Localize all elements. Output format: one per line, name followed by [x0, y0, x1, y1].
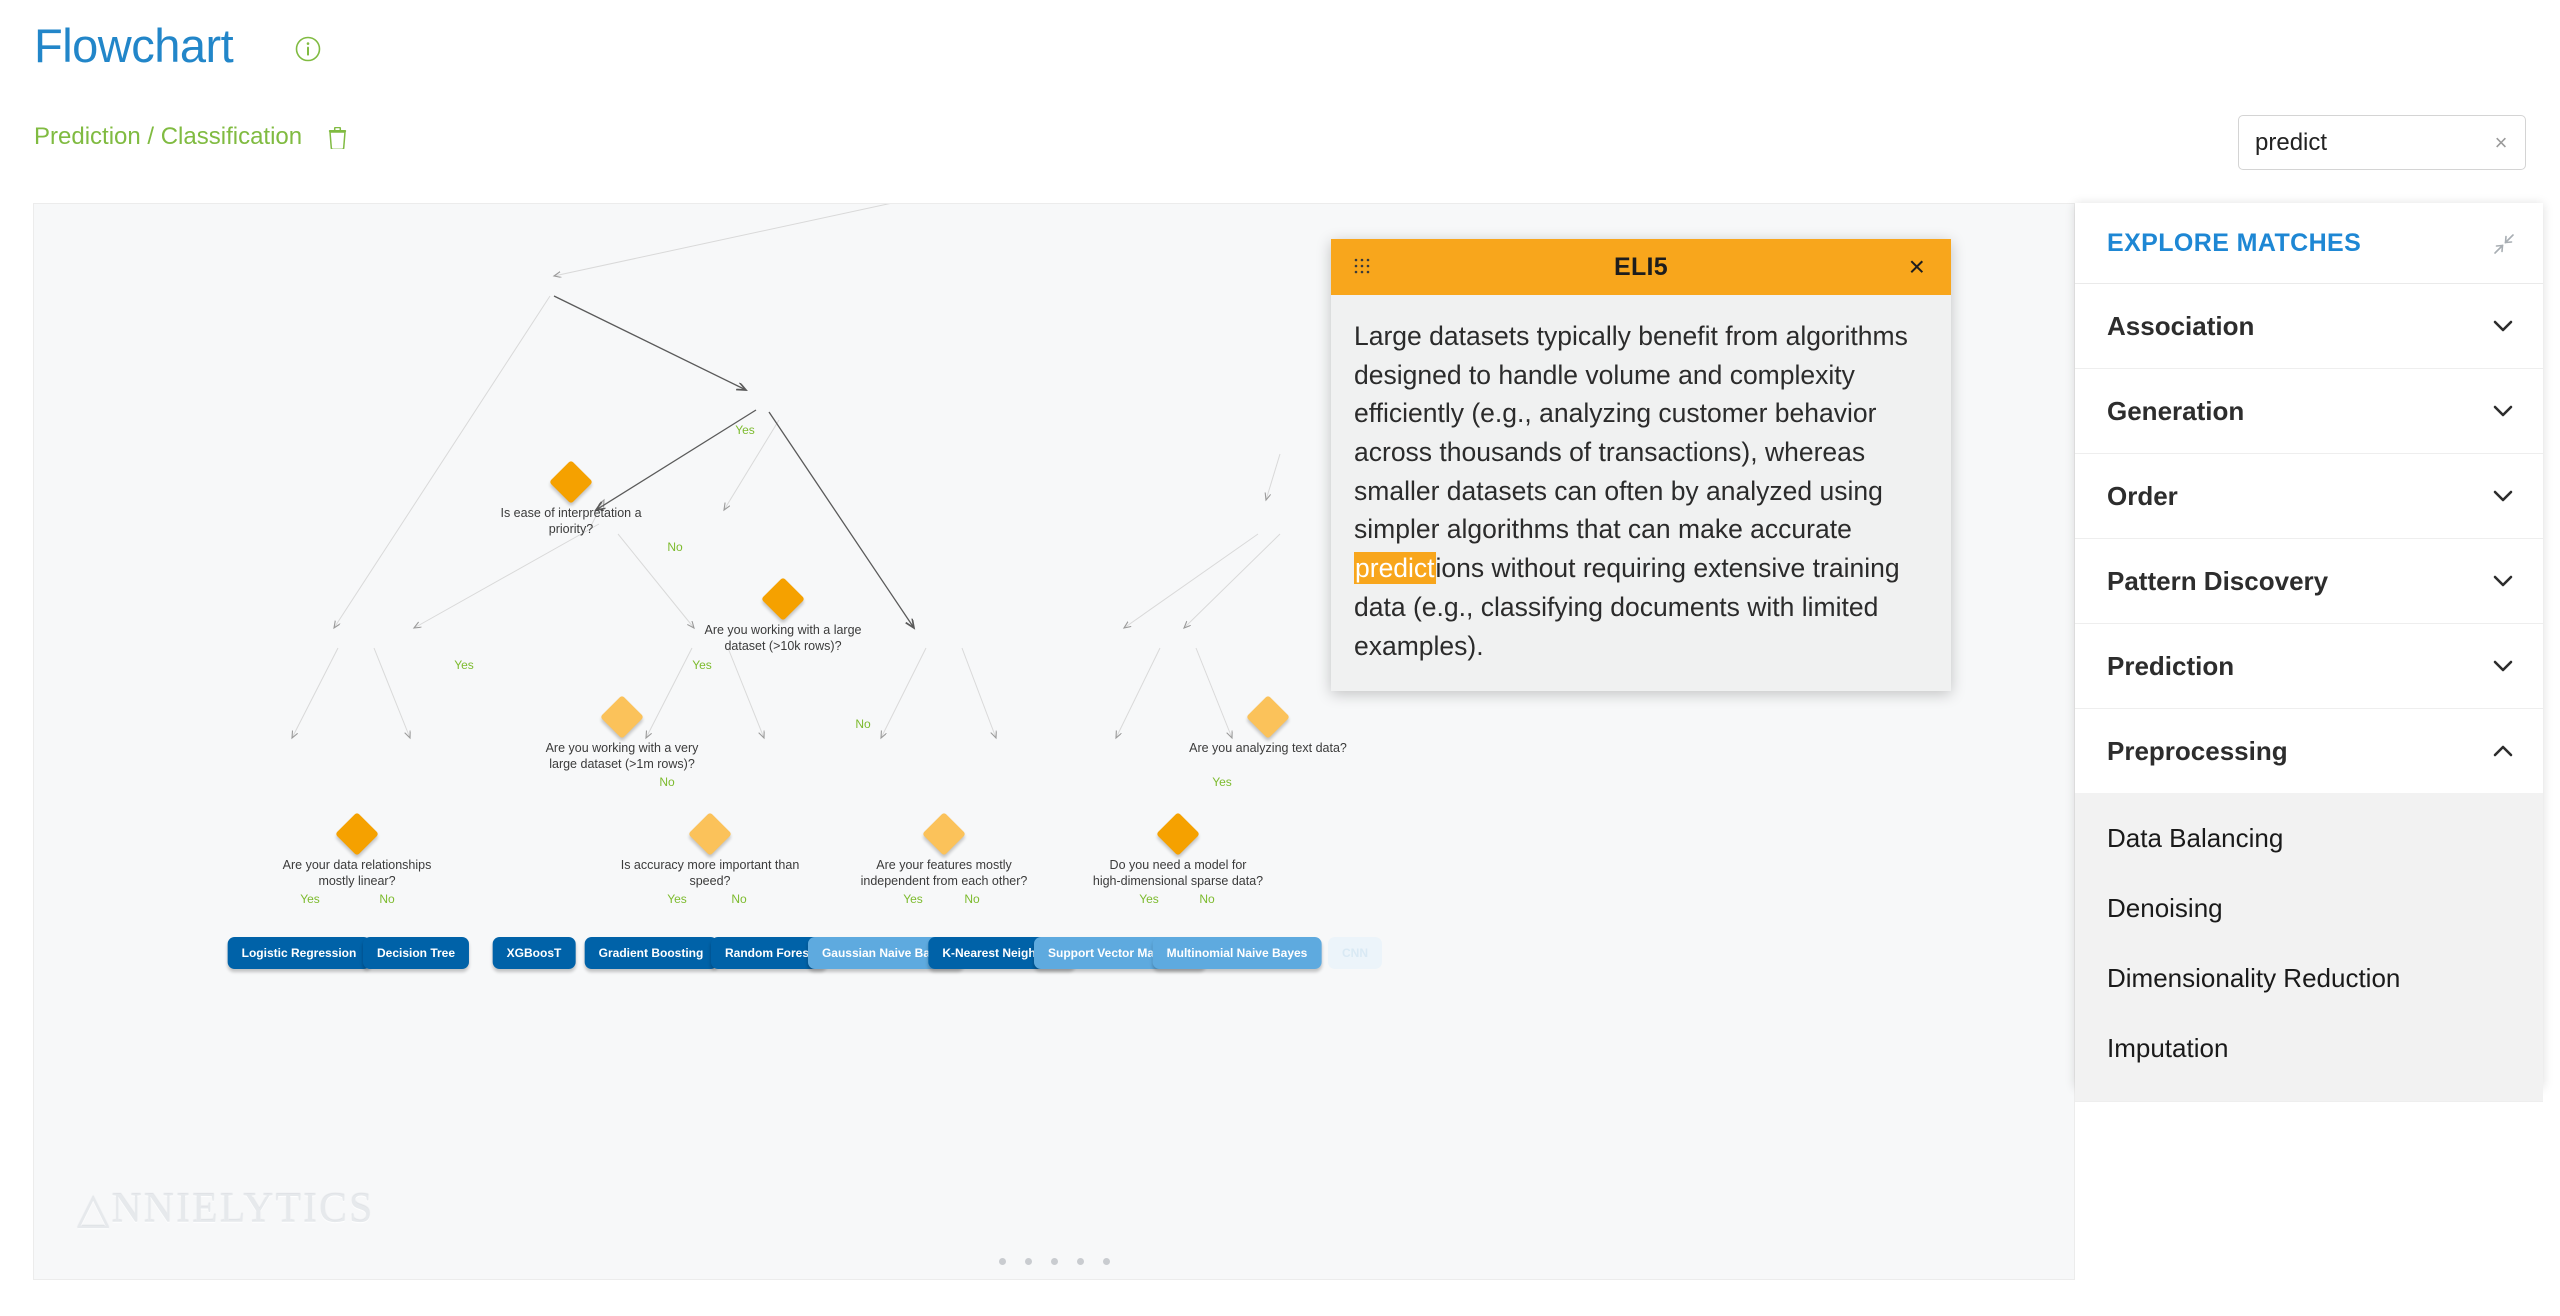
accordion-pattern-discovery: Pattern Discovery [2075, 539, 2543, 624]
accordion-label: Pattern Discovery [2107, 566, 2328, 597]
accordion-label: Prediction [2107, 651, 2234, 682]
accordion-preprocessing: PreprocessingData BalancingDenoisingDime… [2075, 709, 2543, 1102]
explore-matches-panel[interactable]: EXPLORE MATCHES AssociationGenerationOrd… [2075, 203, 2543, 1087]
accordion-header[interactable]: Preprocessing [2075, 709, 2543, 793]
accordion-label: Association [2107, 311, 2254, 342]
algorithm-node[interactable]: Gradient Boosting [585, 937, 718, 969]
edge-label: Yes [667, 892, 687, 906]
algorithm-node[interactable]: Multinomial Naive Bayes [1153, 937, 1322, 969]
trash-icon[interactable] [328, 127, 347, 149]
chevron-down-icon[interactable] [2493, 574, 2513, 588]
accordion-header[interactable]: Prediction [2075, 624, 2543, 708]
accordion-header[interactable]: Pattern Discovery [2075, 539, 2543, 623]
eli5-highlight: predict [1354, 552, 1436, 584]
explore-matches-header: EXPLORE MATCHES [2075, 203, 2543, 284]
eli5-header[interactable]: ELI5 × [1331, 239, 1951, 295]
accordion-association: Association [2075, 284, 2543, 369]
accordion-order: Order [2075, 454, 2543, 539]
edge-label: No [855, 717, 870, 731]
accordion-list: AssociationGenerationOrderPattern Discov… [2075, 284, 2543, 1102]
accordion-label: Order [2107, 481, 2178, 512]
eli5-popup[interactable]: ELI5 × Large datasets typically benefit … [1331, 239, 1951, 691]
edge-label: No [731, 892, 746, 906]
edge-label: Yes [692, 658, 712, 672]
eli5-body: Large datasets typically benefit from al… [1331, 295, 1951, 691]
algorithm-node[interactable]: CNN [1328, 937, 1382, 969]
edge-label: Yes [903, 892, 923, 906]
page-title: Flowchart [34, 22, 233, 69]
edge-label: No [1199, 892, 1214, 906]
algorithm-node[interactable]: XGBoosT [493, 937, 576, 969]
pagination-dot[interactable] [1077, 1258, 1084, 1265]
chevron-down-icon[interactable] [2493, 404, 2513, 418]
pagination-dot[interactable] [999, 1258, 1006, 1265]
pagination-dot[interactable] [1103, 1258, 1110, 1265]
info-circle-icon[interactable] [295, 36, 321, 62]
breadcrumb[interactable]: Prediction / Classification [34, 125, 302, 149]
edge-label: No [667, 540, 682, 554]
algorithm-node[interactable]: Decision Tree [363, 937, 469, 969]
watermark-text: NNIELYTICS [111, 1186, 374, 1232]
triangle-logo-icon: △ [77, 1184, 111, 1234]
accordion-header[interactable]: Association [2075, 284, 2543, 368]
pagination-dot[interactable] [1051, 1258, 1058, 1265]
algorithm-node[interactable]: Logistic Regression [228, 937, 371, 969]
accordion-prediction: Prediction [2075, 624, 2543, 709]
eli5-title: ELI5 [1331, 253, 1951, 282]
collapse-diagonal-icon[interactable] [2493, 233, 2515, 255]
drag-handle-icon[interactable] [1353, 257, 1373, 277]
chevron-up-icon[interactable] [2493, 744, 2513, 758]
accordion-sub-item[interactable]: Imputation [2075, 1013, 2543, 1083]
chevron-down-icon[interactable] [2493, 659, 2513, 673]
accordion-label: Generation [2107, 396, 2244, 427]
edge-label: No [379, 892, 394, 906]
annielytics-watermark: △NNIELYTICS [77, 1184, 374, 1234]
accordion-sub-item[interactable]: Denoising [2075, 873, 2543, 943]
edge-label: Yes [735, 423, 755, 437]
clear-search-icon[interactable]: × [2487, 129, 2515, 157]
edge-label: No [659, 775, 674, 789]
pagination-dot[interactable] [1025, 1258, 1032, 1265]
close-icon[interactable]: × [1909, 252, 1925, 282]
edge-label: Yes [1139, 892, 1159, 906]
accordion-panel: Data BalancingDenoisingDimensionality Re… [2075, 793, 2543, 1101]
accordion-sub-item[interactable]: Data Balancing [2075, 803, 2543, 873]
edge-label: Yes [1212, 775, 1232, 789]
search-input[interactable] [2239, 116, 2479, 169]
canvas-pagination[interactable] [34, 1258, 2074, 1265]
accordion-label: Preprocessing [2107, 736, 2288, 767]
edge-label: No [964, 892, 979, 906]
edge-label: Yes [454, 658, 474, 672]
accordion-header[interactable]: Generation [2075, 369, 2543, 453]
panel-title: EXPLORE MATCHES [2107, 229, 2361, 258]
accordion-generation: Generation [2075, 369, 2543, 454]
search-box[interactable]: × [2238, 115, 2526, 170]
edge-label: Yes [300, 892, 320, 906]
chevron-down-icon[interactable] [2493, 319, 2513, 333]
eli5-text-after: ions without requiring extensive trainin… [1354, 553, 1900, 660]
accordion-sub-item[interactable]: Dimensionality Reduction [2075, 943, 2543, 1013]
chevron-down-icon[interactable] [2493, 489, 2513, 503]
accordion-header[interactable]: Order [2075, 454, 2543, 538]
eli5-text-before: Large datasets typically benefit from al… [1354, 321, 1908, 544]
